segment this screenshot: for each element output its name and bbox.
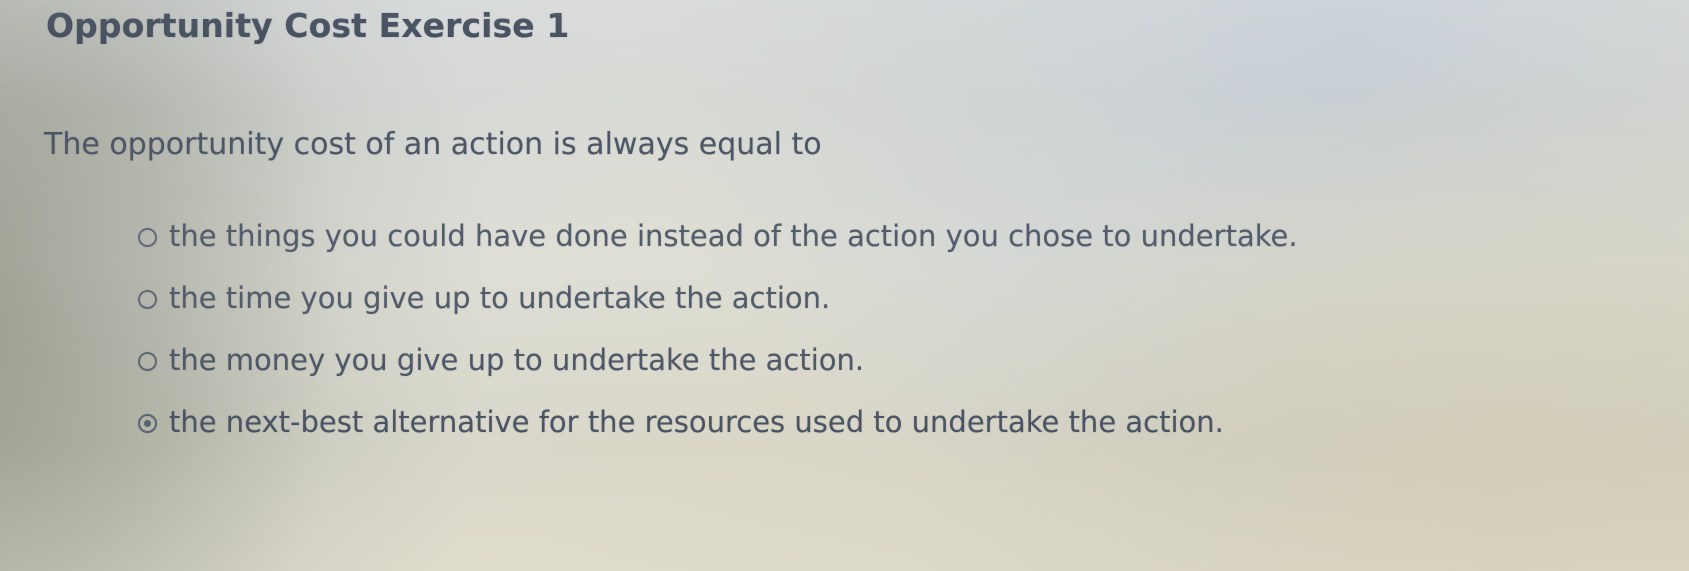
- answer-option-3[interactable]: the money you give up to undertake the a…: [138, 330, 1618, 392]
- answer-option-2[interactable]: the time you give up to undertake the ac…: [138, 268, 1618, 330]
- radio-button-icon-2[interactable]: [138, 290, 157, 309]
- answer-option-label-2: the time you give up to undertake the ac…: [169, 283, 830, 315]
- quiz-screen: Opportunity Cost Exercise 1 The opportun…: [0, 0, 1689, 571]
- page-title: Opportunity Cost Exercise 1: [46, 6, 569, 45]
- answer-option-4[interactable]: the next-best alternative for the resour…: [138, 392, 1618, 454]
- answer-options-group: the things you could have done instead o…: [138, 206, 1618, 454]
- answer-option-1[interactable]: the things you could have done instead o…: [138, 206, 1618, 268]
- radio-button-icon-3[interactable]: [138, 352, 157, 371]
- answer-option-label-4: the next-best alternative for the resour…: [169, 407, 1224, 439]
- quiz-content: Opportunity Cost Exercise 1 The opportun…: [0, 0, 1689, 571]
- radio-button-icon-4[interactable]: [138, 414, 157, 433]
- radio-button-icon-1[interactable]: [138, 228, 157, 247]
- answer-option-label-1: the things you could have done instead o…: [169, 221, 1298, 253]
- answer-option-label-3: the money you give up to undertake the a…: [169, 345, 864, 377]
- question-prompt: The opportunity cost of an action is alw…: [44, 127, 822, 162]
